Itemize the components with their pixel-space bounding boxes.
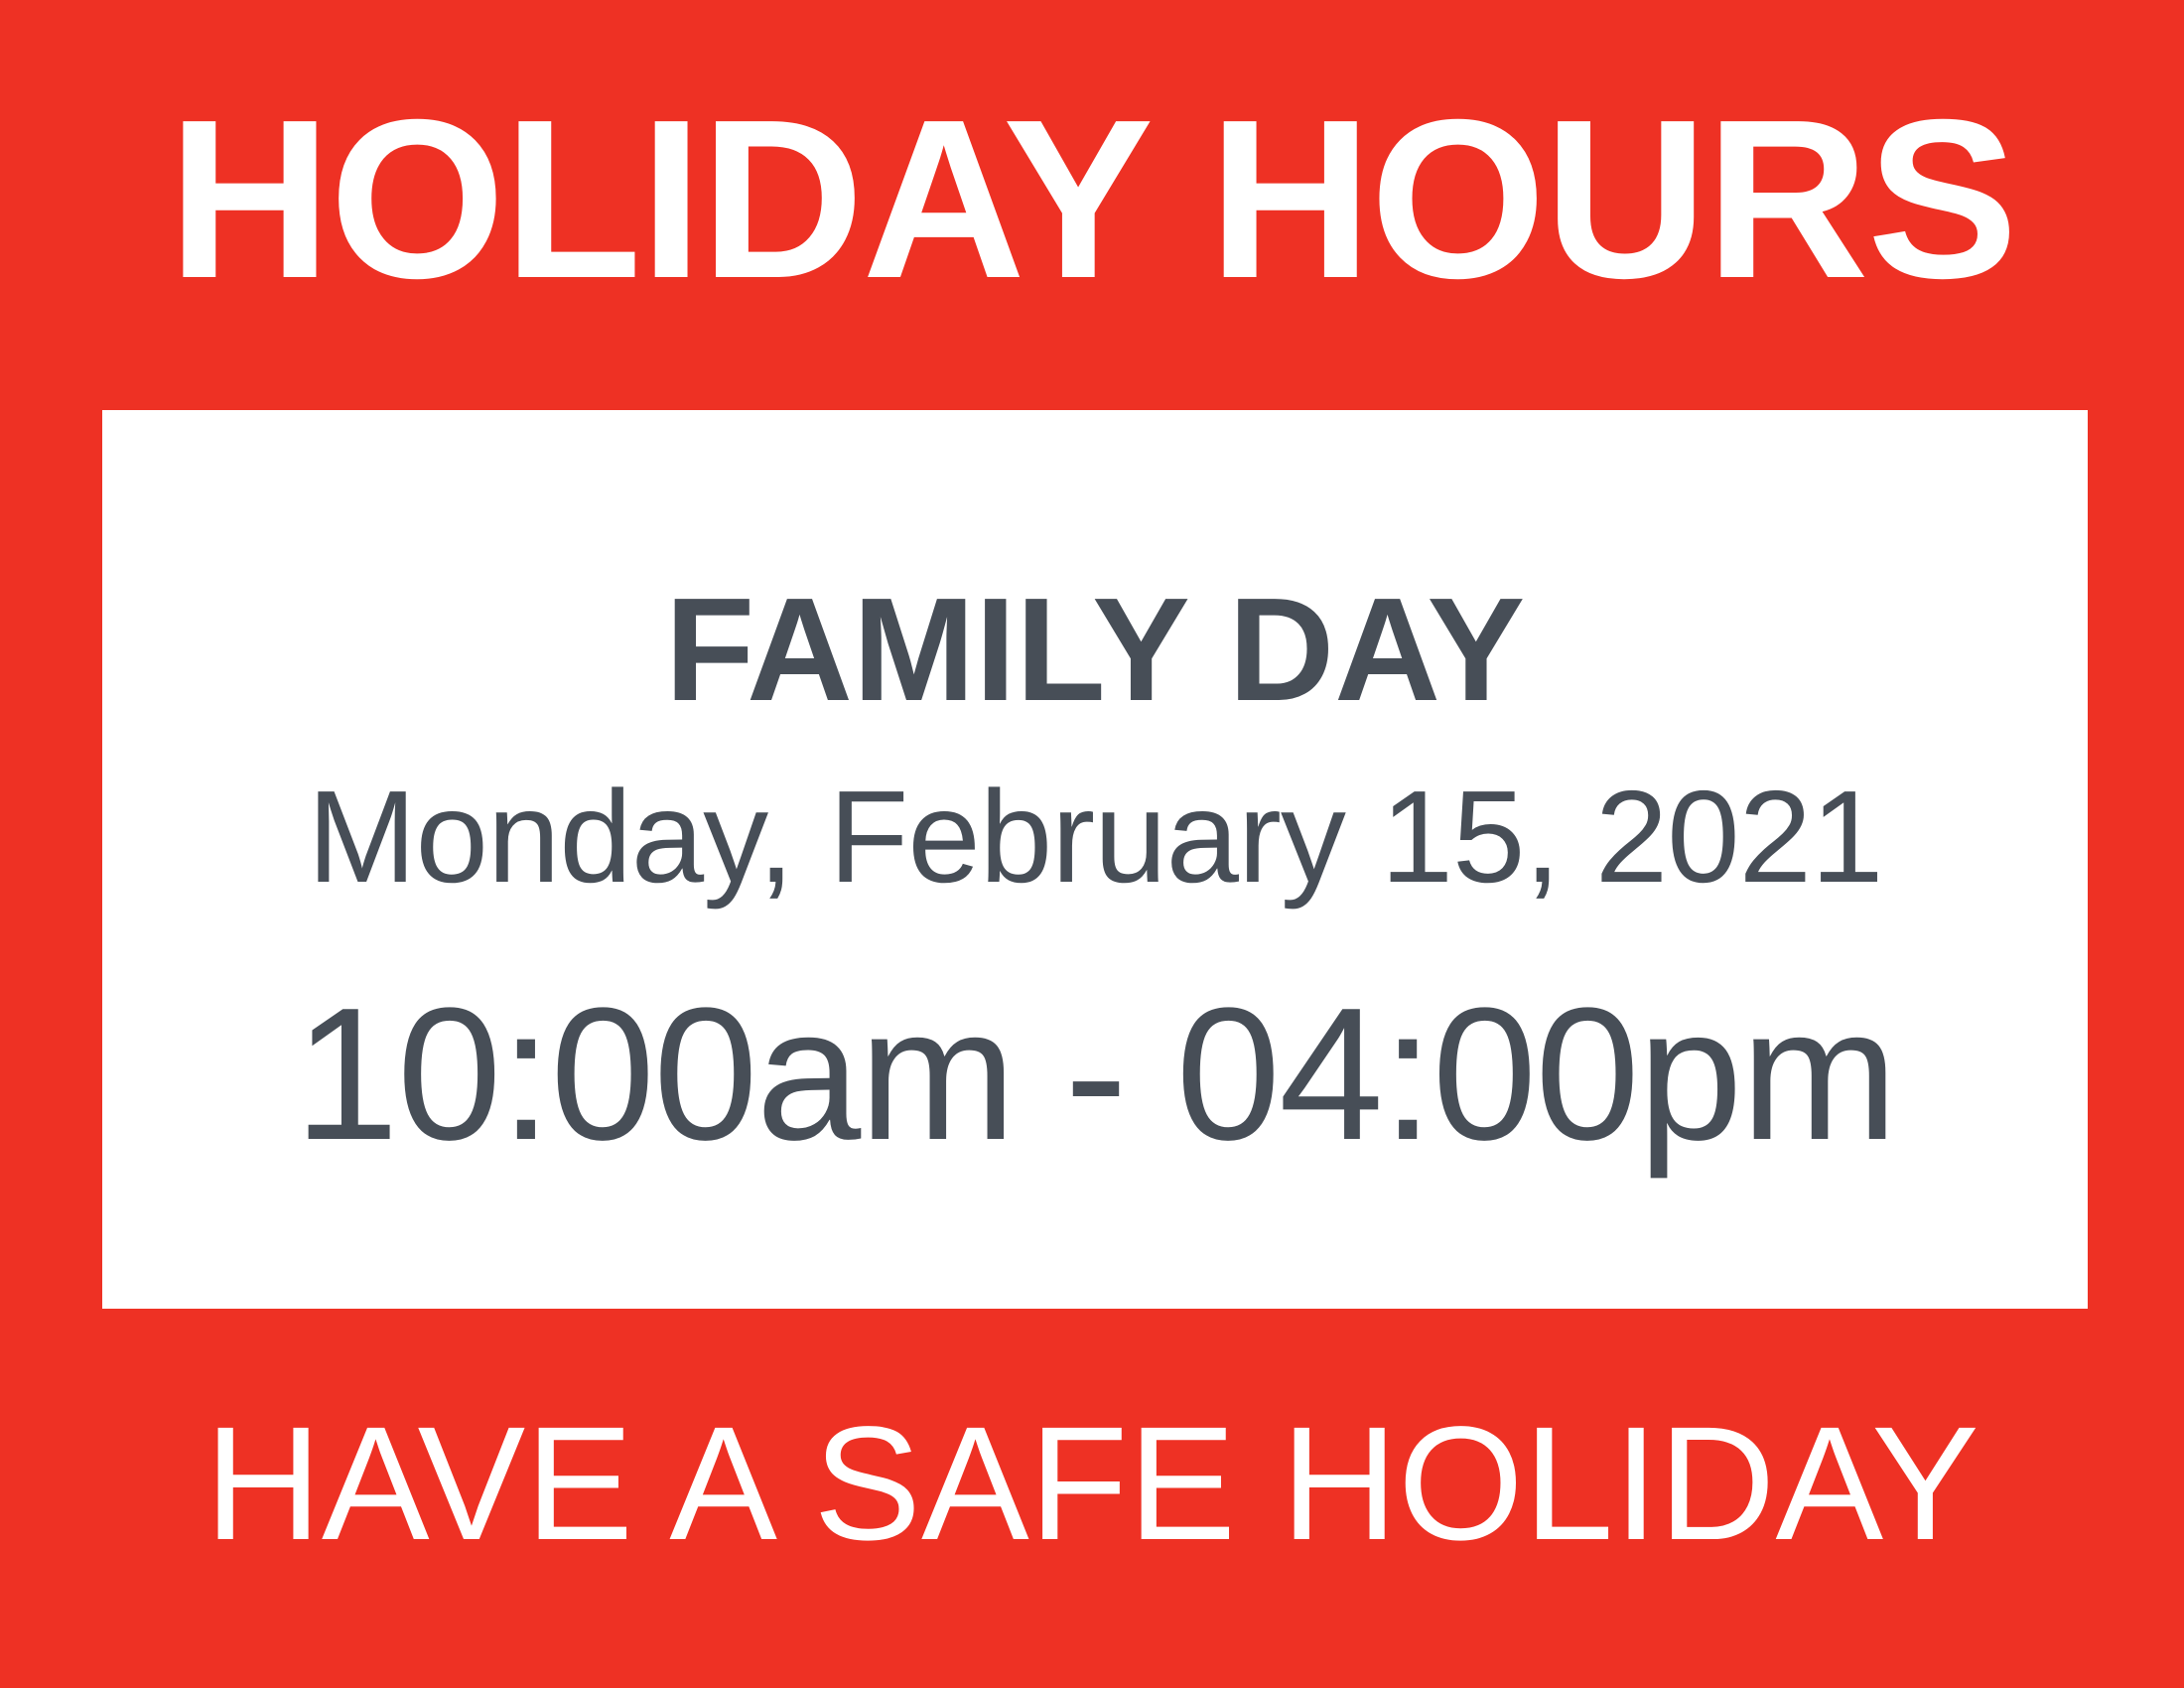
page-title: HOLIDAY HOURS	[168, 86, 2016, 313]
holiday-hours-sign: HOLIDAY HOURS FAMILY DAY Monday, Februar…	[0, 0, 2184, 1688]
holiday-hours-range: 10:00am - 04:00pm	[294, 903, 1896, 1169]
holiday-name: FAMILY DAY	[665, 577, 1525, 724]
sign-footer: HAVE A SAFE HOLIDAY	[0, 1309, 2184, 1688]
holiday-date: Monday, February 15, 2021	[308, 724, 1883, 903]
safety-message: HAVE A SAFE HOLIDAY	[205, 1402, 1979, 1564]
holiday-info-card: FAMILY DAY Monday, February 15, 2021 10:…	[102, 410, 2088, 1309]
sign-header: HOLIDAY HOURS	[0, 0, 2184, 410]
